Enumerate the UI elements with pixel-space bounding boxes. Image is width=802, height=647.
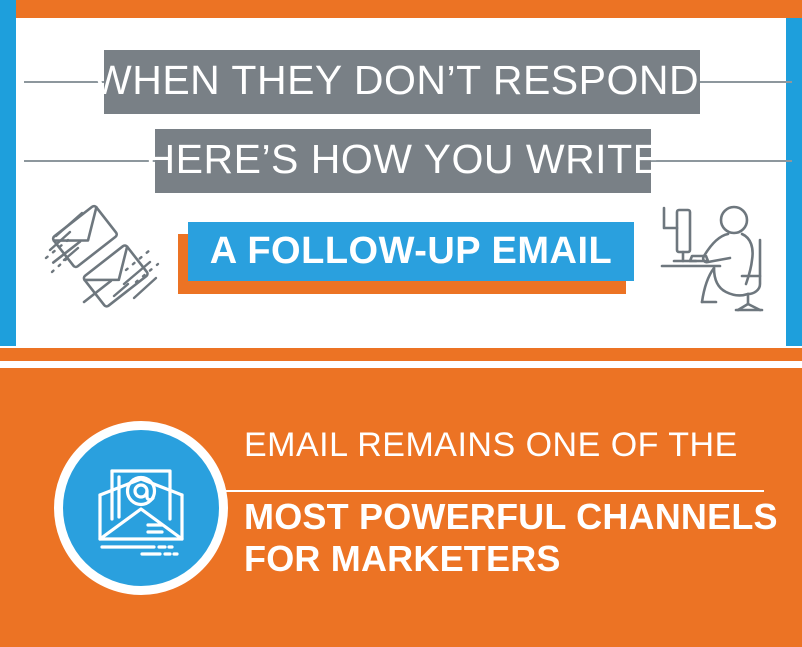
cta-label: A FOLLOW-UP EMAIL	[188, 222, 634, 281]
headline-plate-line-1: WHEN THEY DON’T RESPOND,	[104, 50, 700, 114]
open-envelope-at-symbol-icon	[86, 453, 196, 563]
person-at-desk-icon	[656, 198, 774, 318]
header-section: WHEN THEY DON’T RESPOND, HERE’S HOW YOU …	[0, 0, 802, 362]
lower-headline-line-2: FOR MARKETERS	[244, 538, 784, 580]
headline-plate-line-2: HERE’S HOW YOU WRITE	[155, 129, 651, 193]
infographic-canvas: WHEN THEY DON’T RESPOND, HERE’S HOW YOU …	[0, 0, 802, 647]
lower-section-divider	[216, 490, 764, 492]
lower-headline-line-1: MOST POWERFUL CHANNELS	[244, 496, 784, 538]
lower-kicker-wrap: EMAIL REMAINS ONE OF THE	[244, 428, 764, 464]
follow-up-email-cta[interactable]: A FOLLOW-UP EMAIL	[178, 222, 634, 294]
email-badge	[54, 421, 228, 595]
top-orange-band	[16, 0, 802, 18]
lower-kicker-text: EMAIL REMAINS ONE OF THE	[244, 428, 764, 464]
left-blue-edge-bar	[0, 0, 16, 346]
header-bottom-orange-band	[0, 348, 802, 361]
flying-envelopes-icon	[38, 196, 166, 324]
right-blue-edge-bar	[786, 18, 802, 346]
lower-headline: MOST POWERFUL CHANNELS FOR MARKETERS	[244, 496, 784, 581]
